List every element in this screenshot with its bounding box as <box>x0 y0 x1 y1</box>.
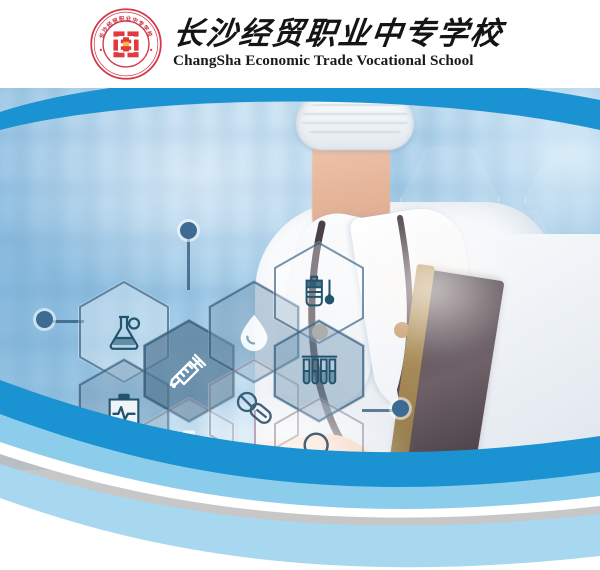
erlenmeyer-flask-icon <box>102 310 146 354</box>
bottom-swoosh <box>0 380 600 570</box>
iv-bag-thermometer-icon <box>298 272 340 314</box>
connector-dot <box>36 311 53 328</box>
site-header: 长沙经贸职业中专学校 <box>0 0 600 88</box>
connector-dot <box>180 222 197 239</box>
page-title-en: ChangSha Economic Trade Vocational Schoo… <box>173 53 503 70</box>
blood-drop-icon <box>233 311 275 353</box>
school-crest-seal: 长沙经贸职业中专学校 <box>89 7 163 81</box>
page-title-cn: 长沙经贸职业中专学校 <box>171 18 505 51</box>
banner-page: 长沙经贸职业中专学校 <box>0 0 600 570</box>
connector-line <box>187 234 190 290</box>
